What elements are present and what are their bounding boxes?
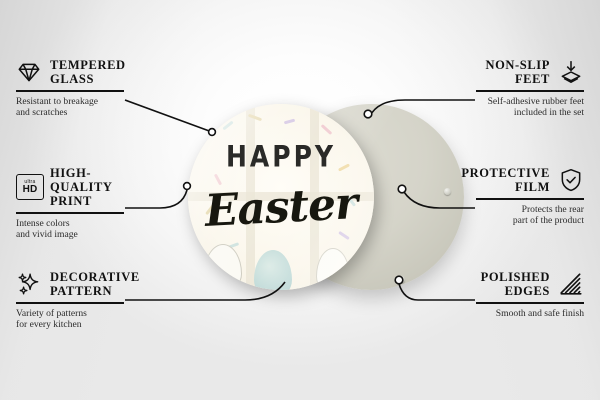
feature-protective-film: PROTECTIVE FILM Protects the rear part o… bbox=[476, 166, 584, 226]
front-disc: HAPPY Easter bbox=[188, 104, 374, 290]
feature-title: DECORATIVE PATTERN bbox=[50, 270, 140, 298]
feature-non-slip-feet: NON-SLIP FEET Self-adhesive rubber feet … bbox=[476, 58, 584, 118]
feature-polished-edges: POLISHED EDGES Smooth and safe finish bbox=[476, 270, 584, 319]
feature-title-line1: TEMPERED bbox=[50, 58, 126, 72]
feature-divider bbox=[16, 90, 124, 92]
diamond-icon bbox=[16, 59, 42, 85]
feature-description: Intense colors and vivid image bbox=[16, 218, 124, 241]
feature-title-line2: GLASS bbox=[50, 72, 94, 86]
feature-description: Protects the rear part of the product bbox=[476, 204, 584, 227]
feature-title: TEMPERED GLASS bbox=[50, 58, 126, 86]
feature-title-line2: PATTERN bbox=[50, 284, 112, 298]
rubber-foot bbox=[444, 188, 451, 195]
feature-header: ultraHD HIGH-QUALITY PRINT bbox=[16, 166, 124, 208]
feature-title-line1: PROTECTIVE bbox=[461, 166, 550, 180]
feature-description: Smooth and safe finish bbox=[476, 308, 584, 319]
feature-title-line1: POLISHED bbox=[481, 270, 550, 284]
feature-title: NON-SLIP FEET bbox=[485, 58, 550, 86]
feature-decorative-pattern: DECORATIVE PATTERN Variety of patterns f… bbox=[16, 270, 124, 330]
disc-headline: HAPPY bbox=[188, 139, 374, 173]
feature-title: PROTECTIVE FILM bbox=[461, 166, 550, 194]
feature-header: NON-SLIP FEET bbox=[476, 58, 584, 86]
feature-title-line2: FEET bbox=[515, 72, 550, 86]
feature-high-quality-print: ultraHD HIGH-QUALITY PRINT Intense color… bbox=[16, 166, 124, 240]
feature-divider bbox=[476, 90, 584, 92]
feature-title-line2: FILM bbox=[515, 180, 550, 194]
feature-divider bbox=[16, 212, 124, 214]
feature-divider bbox=[476, 198, 584, 200]
polished-edges-icon bbox=[558, 271, 584, 297]
feature-title-line1: NON-SLIP bbox=[485, 58, 550, 72]
feature-header: DECORATIVE PATTERN bbox=[16, 270, 124, 298]
feature-divider bbox=[476, 302, 584, 304]
feature-header: POLISHED EDGES bbox=[476, 270, 584, 298]
feature-header: PROTECTIVE FILM bbox=[476, 166, 584, 194]
ultra-hd-icon: ultraHD bbox=[16, 174, 42, 200]
feature-header: TEMPERED GLASS bbox=[16, 58, 124, 86]
feature-title-line2: EDGES bbox=[505, 284, 550, 298]
shield-check-icon bbox=[558, 167, 584, 193]
non-slip-feet-icon bbox=[558, 59, 584, 85]
rubber-foot bbox=[398, 276, 405, 283]
feature-title-line2: PRINT bbox=[50, 194, 92, 208]
feature-description: Resistant to breakage and scratches bbox=[16, 96, 124, 119]
infographic-canvas: HAPPY Easter bbox=[0, 0, 600, 400]
feature-tempered-glass: TEMPERED GLASS Resistant to breakage and… bbox=[16, 58, 124, 118]
feature-title-line1: DECORATIVE bbox=[50, 270, 140, 284]
sparkles-icon bbox=[16, 271, 42, 297]
feature-title: HIGH-QUALITY PRINT bbox=[50, 166, 124, 208]
feature-title-line1: HIGH-QUALITY bbox=[50, 166, 113, 194]
feature-divider bbox=[16, 302, 124, 304]
feature-title: POLISHED EDGES bbox=[481, 270, 550, 298]
disc-script: Easter bbox=[188, 177, 374, 238]
feature-description: Variety of patterns for every kitchen bbox=[16, 308, 124, 331]
feature-description: Self-adhesive rubber feet included in th… bbox=[476, 96, 584, 119]
